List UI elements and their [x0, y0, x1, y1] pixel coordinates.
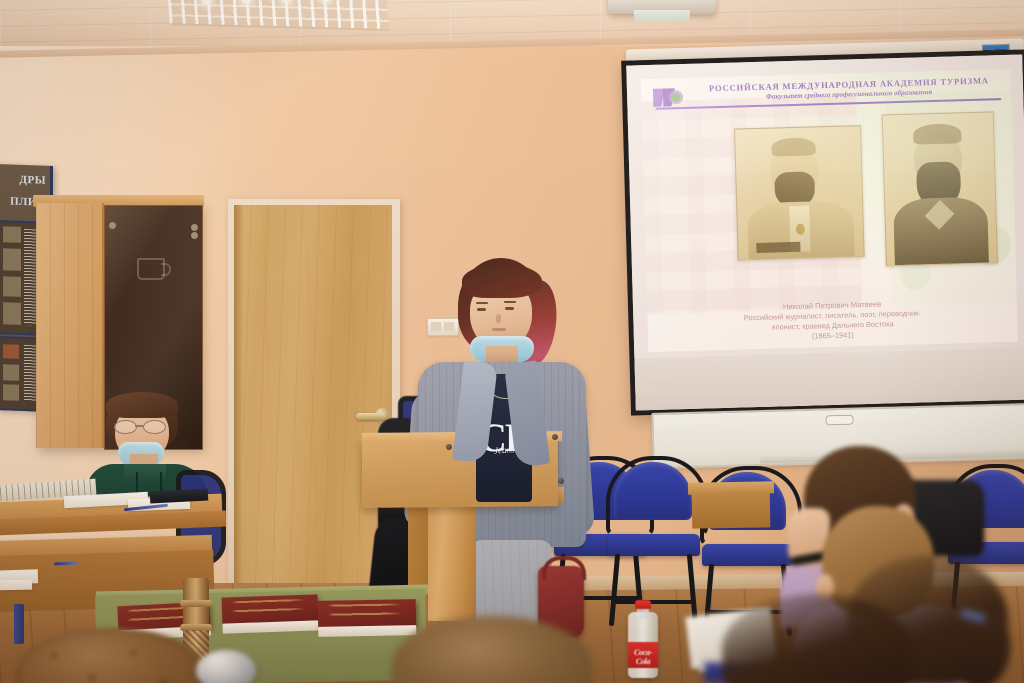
room-door[interactable] — [234, 205, 392, 629]
screen-surface: РОССИЙСКАЯ МЕЖДУНАРОДНАЯ АКАДЕМИЯ ТУРИЗМ… — [626, 55, 1024, 411]
speaker-nose — [496, 314, 501, 323]
ceiling-projector — [608, 0, 716, 14]
cup-inside-cabinet — [137, 258, 165, 280]
notice-line-1: ДРЫ — [0, 168, 46, 192]
backpack-strap — [542, 556, 586, 580]
presentation-slide: РОССИЙСКАЯ МЕЖДУНАРОДНАЯ АКАДЕМИЯ ТУРИЗМ… — [641, 69, 1018, 352]
louver-grid — [167, 0, 389, 29]
projector-lens — [634, 10, 690, 22]
slide-portrait-right — [882, 111, 998, 266]
lectern-column — [428, 503, 476, 621]
slide-portrait-left — [734, 125, 865, 260]
paper-sheet-4 — [0, 580, 32, 591]
classroom-photo: ДРЫ ПЛИН — [0, 0, 1024, 683]
bottle-label: Coca-Cola — [628, 642, 658, 668]
glasses-icon — [114, 420, 170, 432]
speaker-fringe — [462, 264, 542, 298]
door-reveal — [234, 205, 243, 629]
speaker-mouth — [492, 328, 506, 331]
screen-blank-margin — [634, 347, 1024, 410]
side-table-apron — [692, 491, 771, 528]
projection-screen: РОССИЙСКАЯ МЕЖДУНАРОДНАЯ АКАДЕМИЯ ТУРИЗМ… — [621, 49, 1024, 415]
display-book-2[interactable] — [222, 594, 319, 625]
teacher-fringe — [106, 392, 178, 418]
coca-cola-bottle[interactable]: Coca-Cola — [628, 600, 658, 678]
screen-pull-handle[interactable] — [825, 415, 853, 426]
bottle-cap — [635, 600, 651, 609]
cola-brand-text: Coca-Cola — [628, 648, 658, 666]
silver-vessel — [196, 650, 256, 683]
display-book-3[interactable] — [318, 599, 416, 629]
